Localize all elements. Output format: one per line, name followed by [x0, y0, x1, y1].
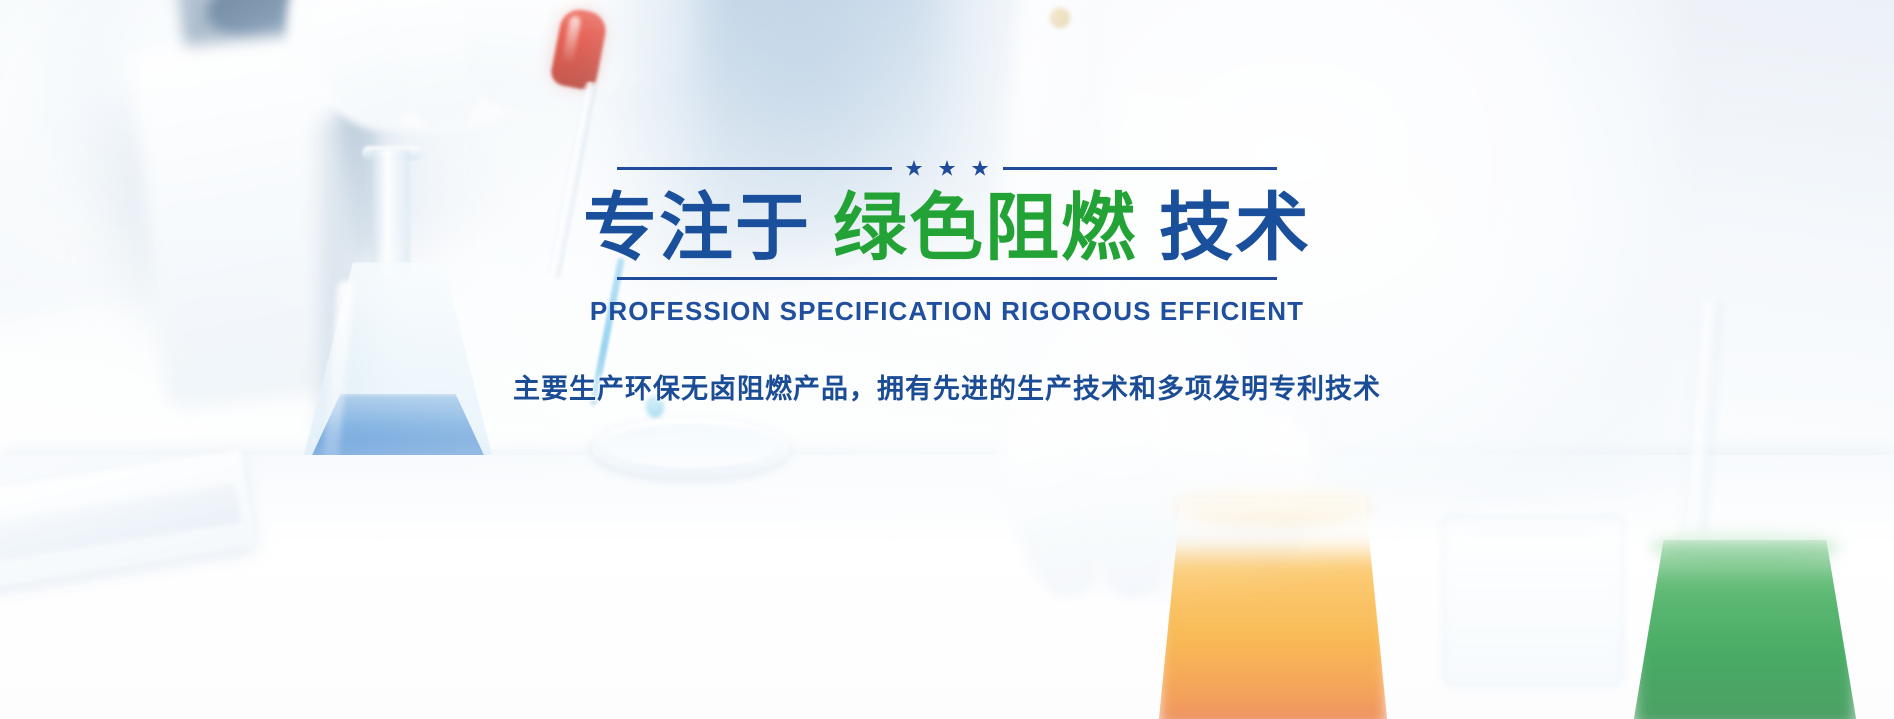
- star-icon: [939, 160, 956, 177]
- rule-right: [1003, 167, 1278, 170]
- description-text: 主要生产环保无卤阻燃产品，拥有先进的生产技术和多项发明专利技术: [513, 367, 1381, 406]
- bottom-rule: [617, 277, 1277, 280]
- star-group: [906, 160, 989, 177]
- page-title: 专注于绿色阻燃技术: [583, 189, 1311, 267]
- headline-part-1: 专注于: [583, 186, 811, 269]
- top-rule-with-stars: [617, 160, 1277, 177]
- star-icon: [972, 160, 989, 177]
- headline-part-2: 绿色阻燃: [833, 186, 1137, 269]
- headline-part-3: 技术: [1159, 186, 1311, 269]
- banner-content: 专注于绿色阻燃技术 PROFESSION SPECIFICATION RIGOR…: [0, 160, 1894, 406]
- rule-left: [617, 167, 892, 170]
- hero-banner: 专注于绿色阻燃技术 PROFESSION SPECIFICATION RIGOR…: [0, 0, 1894, 719]
- subtitle: PROFESSION SPECIFICATION RIGOROUS EFFICI…: [590, 296, 1304, 327]
- star-icon: [906, 160, 923, 177]
